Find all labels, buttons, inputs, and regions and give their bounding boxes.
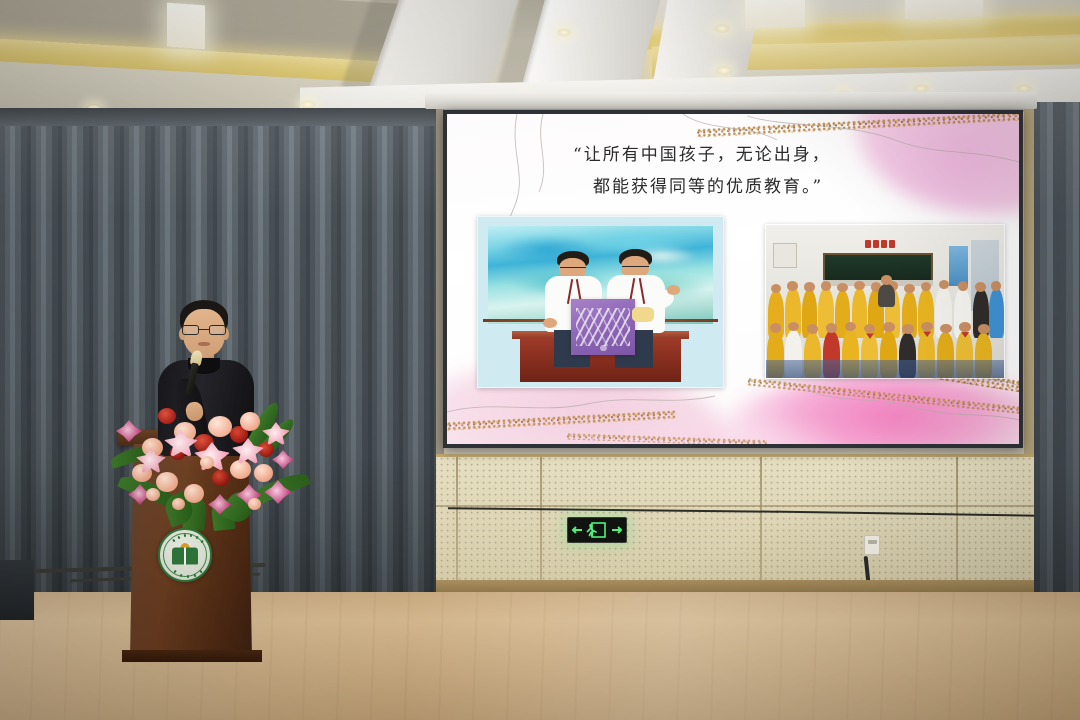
glasses-lens-right (209, 325, 226, 335)
slide-quote-line-1: “让所有中国孩子，无论出身， (573, 140, 831, 165)
photo-two-presenters (477, 216, 724, 388)
emblem-characters (160, 530, 210, 580)
downlight-4 (556, 28, 572, 37)
projected-slide: “让所有中国孩子，无论出身， 都能获得同等的优质教育。” (447, 114, 1019, 444)
red-rose-1 (158, 408, 176, 424)
school-emblem (158, 528, 212, 582)
ceiling-panel-light-2 (745, 0, 805, 29)
glasses-lens-left (182, 325, 199, 335)
peach-rose-9 (254, 464, 273, 482)
rose-bud-3 (200, 456, 214, 469)
peach-rose-6 (156, 472, 178, 492)
panel-seam-horizontal (434, 505, 1080, 507)
podium-base (122, 650, 262, 662)
purple-banner (571, 299, 635, 355)
downlight-5 (714, 24, 730, 33)
floor-left-shadow (0, 560, 34, 620)
panel-seam-1 (456, 457, 458, 594)
magenta-orchid-6 (272, 450, 294, 469)
peach-rose-3 (240, 412, 260, 431)
panel-seam-4 (956, 457, 958, 594)
banner-accessory (632, 307, 654, 322)
flower-arrangement (108, 398, 316, 530)
banner-char-4 (889, 240, 895, 248)
ceiling-panel-light-3 (905, 0, 983, 19)
emergency-exit-sign (567, 517, 627, 543)
presenter-glasses (182, 325, 226, 335)
photo-class-group (765, 224, 1005, 379)
magenta-orchid-1 (116, 420, 142, 442)
presenter-mouth (198, 342, 210, 346)
presenter-right-hand (667, 285, 680, 295)
projection-screen: “让所有中国孩子，无论出身， 都能获得同等的优质教育。” (443, 110, 1023, 448)
glasses-bridge (199, 329, 209, 330)
presenter-left-glasses (560, 267, 586, 270)
rose-bud-1 (146, 488, 160, 501)
auditorium-scene: “让所有中国孩子，无论出身， 都能获得同等的优质教育。” (0, 0, 1080, 720)
banner-seal (600, 345, 606, 352)
downlight-6 (716, 66, 732, 75)
stage-curtain-right (1034, 102, 1080, 622)
rose-bud-2 (172, 498, 185, 510)
banner-char-2 (873, 240, 879, 248)
curtain-shading-right (1034, 102, 1080, 622)
panel-seam-2 (540, 457, 542, 594)
rose-bud-4 (248, 498, 261, 510)
slide-quote-line-2: 都能获得同等的优质教育。” (593, 172, 823, 197)
ceiling-panel-light-1 (167, 3, 205, 50)
presenter-right-glasses (622, 266, 649, 269)
panel-seam-3 (760, 457, 762, 594)
screen-mount-bar (425, 92, 1037, 109)
banner-calligraphy (576, 308, 629, 346)
banner-char-3 (881, 240, 887, 248)
peach-rose-7 (184, 484, 204, 503)
peach-rose-2 (208, 416, 232, 437)
classroom-banner (852, 239, 909, 250)
wall-outlet (864, 535, 880, 555)
acoustic-wall-panels (434, 454, 1080, 594)
exit-sign-icon (570, 520, 624, 540)
front-row-jeans (766, 360, 1004, 378)
red-rose-6 (212, 470, 229, 486)
banner-char-1 (865, 240, 871, 248)
classroom-poster-left (773, 243, 797, 267)
